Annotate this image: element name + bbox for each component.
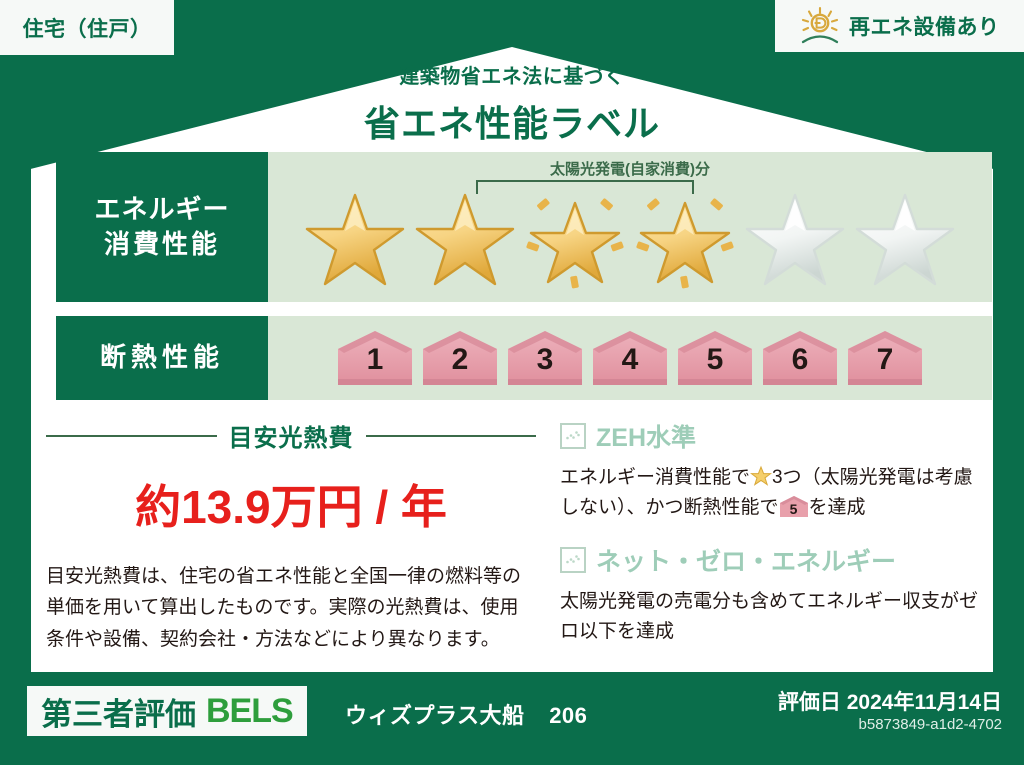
- insulation-performance-label-text: 断熱性能: [100, 340, 224, 375]
- building-name: ウィズプラス大船: [345, 703, 525, 728]
- page-title-sub: 建築物省エネ法に基づく: [0, 60, 1024, 89]
- dwelling-type-label: 住宅（住戸）: [23, 13, 152, 43]
- bels-logo-en: BELS: [206, 692, 293, 731]
- star-icon: [413, 181, 517, 291]
- energy-performance-label: エネルギー 消費性能: [56, 152, 268, 302]
- page-title-main: 省エネ性能ラベル: [0, 95, 1024, 147]
- energy-performance-body: 太陽光発電(自家消費)分: [268, 152, 992, 302]
- house-badge-icon: 3: [506, 329, 584, 387]
- divider-left: [46, 435, 217, 437]
- insulation-level-number: 1: [336, 343, 414, 377]
- house-badge-icon: 5: [676, 329, 754, 387]
- star-icon: [633, 181, 737, 291]
- standard-zeh-desc-part3: を達成: [809, 497, 866, 518]
- renewable-equipment-label: 再エネ設備あり: [849, 11, 1000, 41]
- evaluation-date: 評価日 2024年11月14日: [778, 686, 1002, 716]
- standard-net-zero-energy-description: 太陽光発電の売電分も含めてエネルギー収支がゼロ以下を達成: [560, 587, 980, 648]
- footer-bar: 第三者評価 BELS ウィズプラス大船 206 評価日 2024年11月14日 …: [0, 672, 1024, 765]
- bels-logo-jp: 第三者評価: [41, 689, 196, 734]
- evaluation-id: b5873849-a1d2-4702: [859, 716, 1002, 733]
- standards-section: ZEH水準 エネルギー消費性能で3つ（太陽光発電は考慮しない）、かつ断熱性能で5…: [560, 418, 980, 666]
- insulation-performance-label: 断熱性能: [56, 316, 268, 400]
- standard-zeh-description: エネルギー消費性能で3つ（太陽光発電は考慮しない）、かつ断熱性能で5を達成: [560, 463, 980, 524]
- insulation-level-number: 2: [421, 343, 499, 377]
- energy-cost-heading: 目安光熱費: [46, 418, 536, 453]
- standard-net-zero-energy-header: ネット・ゼロ・エネルギー: [560, 542, 980, 578]
- standard-net-zero-energy-title: ネット・ゼロ・エネルギー: [596, 542, 896, 578]
- energy-cost-heading-label: 目安光熱費: [229, 418, 354, 453]
- star-icon: [523, 181, 627, 291]
- unchecked-box-icon: [560, 423, 586, 449]
- star-icon: [743, 181, 847, 291]
- page-title: 建築物省エネ法に基づく 省エネ性能ラベル: [0, 60, 1024, 147]
- house-badge-icon: 1: [336, 329, 414, 387]
- standard-zeh-header: ZEH水準: [560, 418, 980, 454]
- renewable-equipment-badge: 再エネ設備あり: [775, 0, 1024, 52]
- standard-zeh-desc-part1: エネルギー消費性能で: [560, 467, 750, 488]
- insulation-level-number: 5: [676, 343, 754, 377]
- energy-cost-section: 目安光熱費 約13.9万円 / 年 目安光熱費は、住宅の省エネ性能と全国一律の燃…: [46, 418, 536, 655]
- bels-logo: 第三者評価 BELS: [27, 686, 307, 736]
- energy-performance-label-line2: 消費性能: [104, 227, 220, 262]
- house-badge-icon: 2: [421, 329, 499, 387]
- house-badge-icon: 7: [846, 329, 924, 387]
- standard-zeh-title: ZEH水準: [596, 418, 696, 454]
- insulation-level-number: 4: [591, 343, 669, 377]
- house-badge-icon: 5: [779, 495, 809, 518]
- star-icon: [853, 181, 957, 291]
- standard-zeh: ZEH水準 エネルギー消費性能で3つ（太陽光発電は考慮しない）、かつ断熱性能で5…: [560, 418, 980, 524]
- insulation-performance-body: 1 2 3: [268, 316, 992, 400]
- house-badge-icon: 4: [591, 329, 669, 387]
- dwelling-type-badge: 住宅（住戸）: [0, 0, 174, 55]
- insulation-level-scale: 1 2 3: [268, 316, 992, 400]
- star-icon: [750, 465, 772, 487]
- house-badge-icon: 6: [761, 329, 839, 387]
- insulation-level-number: 7: [846, 343, 924, 377]
- insulation-level-number: 3: [506, 343, 584, 377]
- star-rating: [268, 176, 992, 296]
- unchecked-box-icon: [560, 547, 586, 573]
- performance-rows: エネルギー 消費性能 太陽光発電(自家消費)分: [56, 152, 992, 400]
- energy-performance-row: エネルギー 消費性能 太陽光発電(自家消費)分: [56, 152, 992, 302]
- standard-net-zero-energy: ネット・ゼロ・エネルギー 太陽光発電の売電分も含めてエネルギー収支がゼロ以下を達…: [560, 542, 980, 648]
- energy-performance-label-line1: エネルギー: [94, 192, 229, 227]
- insulation-performance-row: 断熱性能 1: [56, 316, 992, 400]
- solar-sun-icon: [799, 6, 841, 46]
- star-icon: [303, 181, 407, 291]
- energy-cost-value: 約13.9万円 / 年: [46, 471, 536, 537]
- energy-cost-note: 目安光熱費は、住宅の省エネ性能と全国一律の燃料等の単価を用いて算出したものです。…: [46, 561, 536, 655]
- divider-right: [366, 435, 537, 437]
- unit-number: 206: [549, 703, 587, 728]
- standard-zeh-desc-level: 5: [779, 498, 809, 520]
- insulation-level-number: 6: [761, 343, 839, 377]
- building-info: ウィズプラス大船 206: [345, 698, 587, 730]
